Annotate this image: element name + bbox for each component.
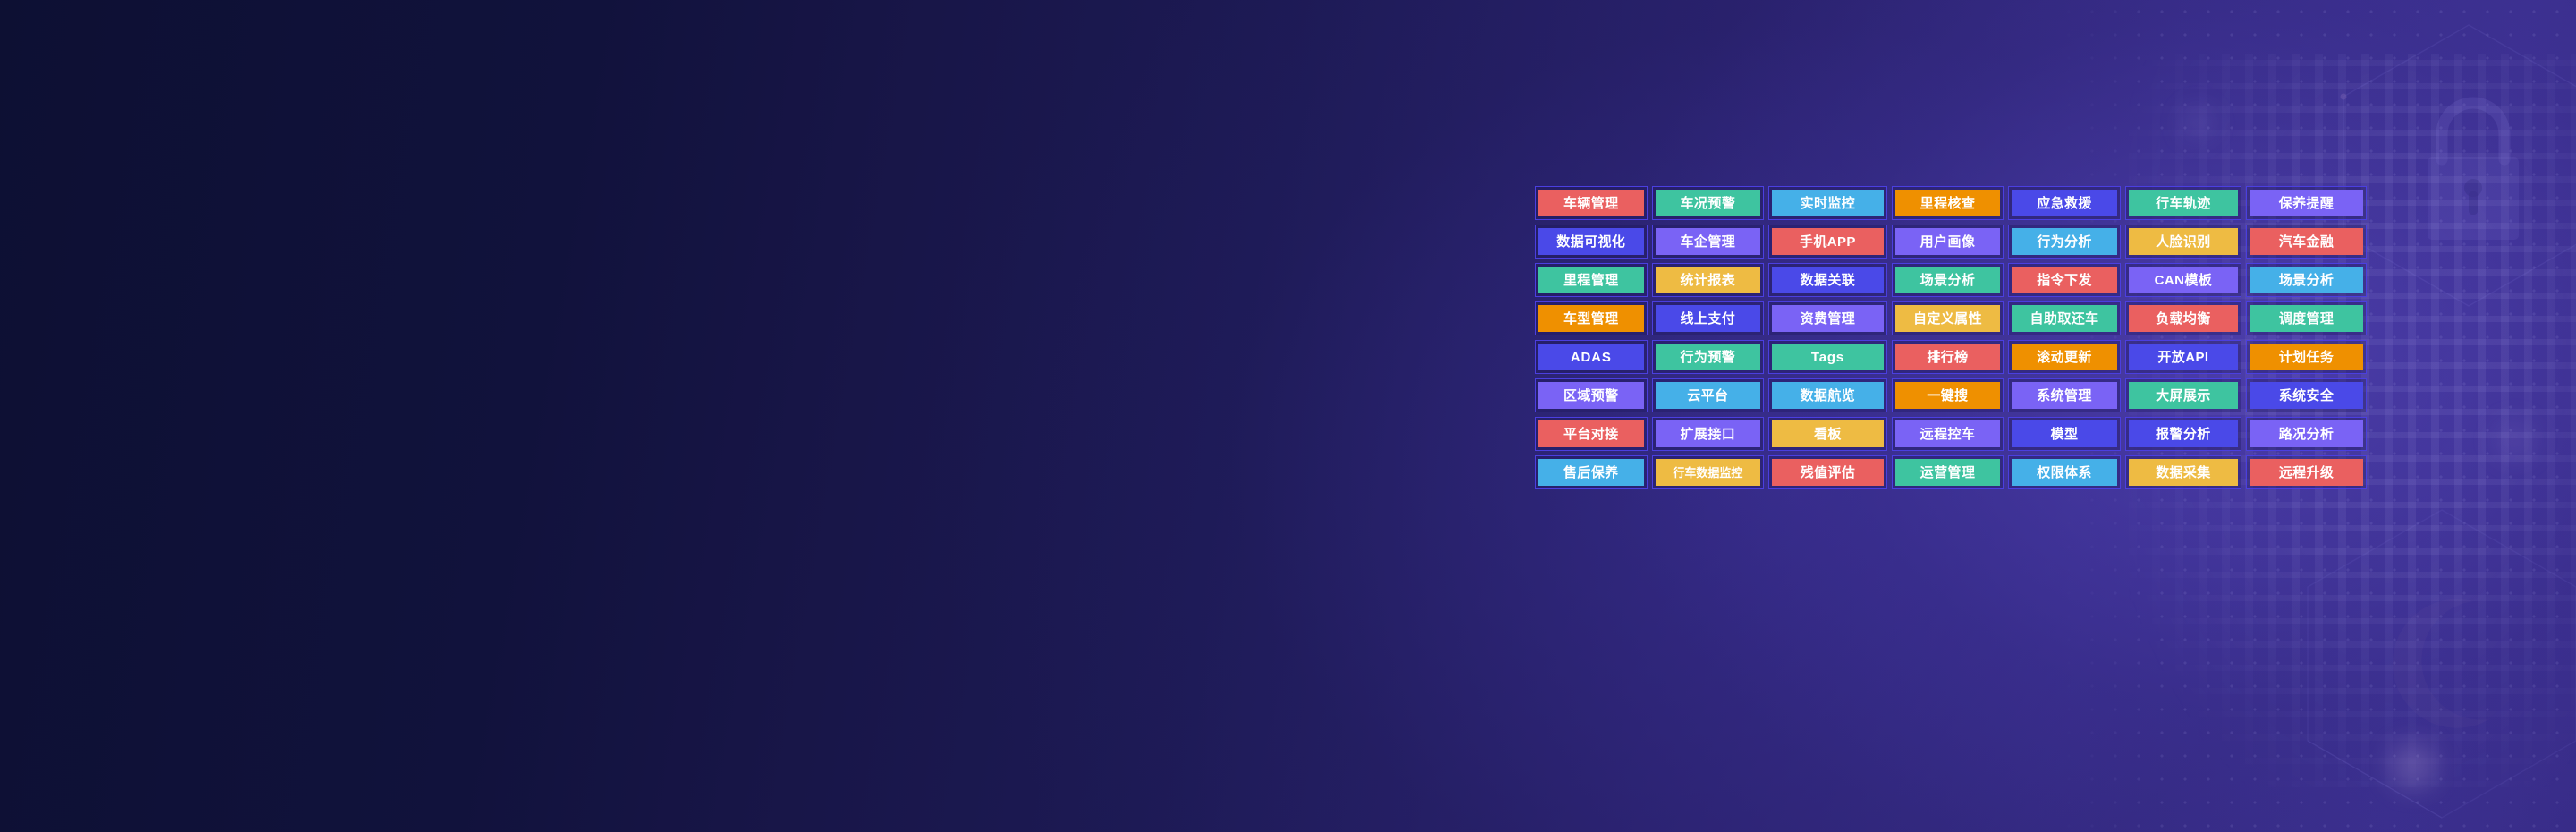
tile-6-3[interactable]: 数据航览 [1768, 378, 1887, 412]
tile-4-3[interactable]: 资费管理 [1768, 301, 1887, 335]
tile-7-1[interactable]: 平台对接 [1535, 417, 1648, 451]
tile-7-2[interactable]: 扩展接口 [1652, 417, 1765, 451]
tile-label: 行车数据监控 [1656, 459, 1761, 486]
tile-3-3[interactable]: 数据关联 [1768, 263, 1887, 297]
tile-6-1[interactable]: 区域预警 [1535, 378, 1648, 412]
tile-label: 负载均衡 [2129, 305, 2238, 332]
tile-label: 残值评估 [1772, 459, 1884, 486]
tile-4-4[interactable]: 自定义属性 [1892, 301, 2004, 335]
tile-1-2[interactable]: 车况预警 [1652, 186, 1765, 220]
tile-5-5[interactable]: 滚动更新 [2008, 340, 2121, 374]
tile-3-1[interactable]: 里程管理 [1535, 263, 1648, 297]
glow-orb-3 [2495, 420, 2535, 460]
tile-label: 系统管理 [2012, 382, 2117, 409]
tile-2-4[interactable]: 用户画像 [1892, 225, 2004, 259]
tile-label: 用户画像 [1895, 228, 2001, 255]
tile-row: 平台对接扩展接口看板远程控车模型报警分析路况分析 [1535, 417, 2367, 451]
tile-8-6[interactable]: 数据采集 [2125, 455, 2241, 489]
tile-label: 排行榜 [1895, 344, 2001, 370]
tile-8-2[interactable]: 行车数据监控 [1652, 455, 1765, 489]
tile-2-6[interactable]: 人脸识别 [2125, 225, 2241, 259]
tile-label: 行为分析 [2012, 228, 2117, 255]
tile-label: 运营管理 [1895, 459, 2001, 486]
tile-5-1[interactable]: ADAS [1535, 340, 1648, 374]
tile-2-7[interactable]: 汽车金融 [2246, 225, 2367, 259]
tile-2-3[interactable]: 手机APP [1768, 225, 1887, 259]
tile-label: 大屏展示 [2129, 382, 2238, 409]
tile-label: 里程核查 [1895, 190, 2001, 216]
tile-5-4[interactable]: 排行榜 [1892, 340, 2004, 374]
tile-label: 自助取还车 [2012, 305, 2117, 332]
tile-1-6[interactable]: 行车轨迹 [2125, 186, 2241, 220]
tile-8-3[interactable]: 残值评估 [1768, 455, 1887, 489]
tile-4-6[interactable]: 负载均衡 [2125, 301, 2241, 335]
tile-label: ADAS [1538, 344, 1644, 370]
tile-label: 一键搜 [1895, 382, 2001, 409]
tile-label: 汽车金融 [2250, 228, 2363, 255]
padlock-icon [2406, 82, 2540, 252]
tile-5-6[interactable]: 开放API [2125, 340, 2241, 374]
tile-label: 车型管理 [1538, 305, 1644, 332]
tile-row: 车辆管理车况预警实时监控里程核查应急救援行车轨迹保养提醒 [1535, 186, 2367, 220]
glow-orb-1 [2390, 743, 2436, 789]
tile-4-2[interactable]: 线上支付 [1652, 301, 1765, 335]
tile-1-4[interactable]: 里程核查 [1892, 186, 2004, 220]
tile-5-3[interactable]: Tags [1768, 340, 1887, 374]
tile-8-5[interactable]: 权限体系 [2008, 455, 2121, 489]
tile-label: 云平台 [1656, 382, 1761, 409]
tile-4-5[interactable]: 自助取还车 [2008, 301, 2121, 335]
tile-label: 计划任务 [2250, 344, 2363, 370]
tile-3-4[interactable]: 场景分析 [1892, 263, 2004, 297]
tile-label: 资费管理 [1772, 305, 1884, 332]
tile-label: 看板 [1772, 420, 1884, 447]
tile-5-2[interactable]: 行为预警 [1652, 340, 1765, 374]
tile-3-7[interactable]: 场景分析 [2246, 263, 2367, 297]
tile-6-5[interactable]: 系统管理 [2008, 378, 2121, 412]
tile-2-5[interactable]: 行为分析 [2008, 225, 2121, 259]
tile-label: 场景分析 [2250, 267, 2363, 293]
tile-7-3[interactable]: 看板 [1768, 417, 1887, 451]
tile-label: 路况分析 [2250, 420, 2363, 447]
tile-label: 报警分析 [2129, 420, 2238, 447]
tile-label: 数据关联 [1772, 267, 1884, 293]
tile-1-3[interactable]: 实时监控 [1768, 186, 1887, 220]
tile-4-7[interactable]: 调度管理 [2246, 301, 2367, 335]
tile-row: ADAS行为预警Tags排行榜滚动更新开放API计划任务 [1535, 340, 2367, 374]
tile-label: 系统安全 [2250, 382, 2363, 409]
tile-7-5[interactable]: 模型 [2008, 417, 2121, 451]
tile-4-1[interactable]: 车型管理 [1535, 301, 1648, 335]
tile-label: 售后保养 [1538, 459, 1644, 486]
tile-8-7[interactable]: 远程升级 [2246, 455, 2367, 489]
tile-row: 数据可视化车企管理手机APP用户画像行为分析人脸识别汽车金融 [1535, 225, 2367, 259]
tile-label: 场景分析 [1895, 267, 2001, 293]
tile-label: 车况预警 [1656, 190, 1761, 216]
tile-6-6[interactable]: 大屏展示 [2125, 378, 2241, 412]
tile-row: 车型管理线上支付资费管理自定义属性自助取还车负载均衡调度管理 [1535, 301, 2367, 335]
tile-label: 车辆管理 [1538, 190, 1644, 216]
feature-tile-grid: 车辆管理车况预警实时监控里程核查应急救援行车轨迹保养提醒数据可视化车企管理手机A… [1535, 186, 2367, 489]
crescent-decor [2388, 590, 2522, 734]
tile-7-6[interactable]: 报警分析 [2125, 417, 2241, 451]
tile-label: 里程管理 [1538, 267, 1644, 293]
tile-1-5[interactable]: 应急救援 [2008, 186, 2121, 220]
tile-label: 数据可视化 [1538, 228, 1644, 255]
tile-label: 区域预警 [1538, 382, 1644, 409]
tile-label: 指令下发 [2012, 267, 2117, 293]
tile-label: 应急救援 [2012, 190, 2117, 216]
tile-label: 远程升级 [2250, 459, 2363, 486]
tile-label: 模型 [2012, 420, 2117, 447]
tile-row: 里程管理统计报表数据关联场景分析指令下发CAN模板场景分析 [1535, 263, 2367, 297]
tile-label: 实时监控 [1772, 190, 1884, 216]
tile-label: 保养提醒 [2250, 190, 2363, 216]
tile-label: CAN模板 [2129, 267, 2238, 293]
screen: 车辆管理车况预警实时监控里程核查应急救援行车轨迹保养提醒数据可视化车企管理手机A… [0, 0, 2576, 832]
tile-row: 售后保养行车数据监控残值评估运营管理权限体系数据采集远程升级 [1535, 455, 2367, 489]
tile-3-2[interactable]: 统计报表 [1652, 263, 1765, 297]
tile-row: 区域预警云平台数据航览一键搜系统管理大屏展示系统安全 [1535, 378, 2367, 412]
tile-label: 开放API [2129, 344, 2238, 370]
tile-label: 远程控车 [1895, 420, 2001, 447]
tile-7-7[interactable]: 路况分析 [2246, 417, 2367, 451]
tile-1-1[interactable]: 车辆管理 [1535, 186, 1648, 220]
tile-label: 数据采集 [2129, 459, 2238, 486]
tile-6-4[interactable]: 一键搜 [1892, 378, 2004, 412]
tile-8-4[interactable]: 运营管理 [1892, 455, 2004, 489]
tile-5-7[interactable]: 计划任务 [2246, 340, 2367, 374]
tile-label: 手机APP [1772, 228, 1884, 255]
tile-label: 车企管理 [1656, 228, 1761, 255]
glow-orb-2 [2182, 107, 2213, 138]
tile-label: 扩展接口 [1656, 420, 1761, 447]
tile-label: Tags [1772, 344, 1884, 370]
tile-7-4[interactable]: 远程控车 [1892, 417, 2004, 451]
tile-label: 调度管理 [2250, 305, 2363, 332]
tile-2-2[interactable]: 车企管理 [1652, 225, 1765, 259]
tile-label: 数据航览 [1772, 382, 1884, 409]
tile-label: 人脸识别 [2129, 228, 2238, 255]
tile-8-1[interactable]: 售后保养 [1535, 455, 1648, 489]
tile-label: 自定义属性 [1895, 305, 2001, 332]
tile-label: 行车轨迹 [2129, 190, 2238, 216]
tile-label: 平台对接 [1538, 420, 1644, 447]
tile-2-1[interactable]: 数据可视化 [1535, 225, 1648, 259]
tile-6-2[interactable]: 云平台 [1652, 378, 1765, 412]
tile-label: 统计报表 [1656, 267, 1761, 293]
tile-label: 权限体系 [2012, 459, 2117, 486]
tile-label: 滚动更新 [2012, 344, 2117, 370]
tile-3-5[interactable]: 指令下发 [2008, 263, 2121, 297]
tile-1-7[interactable]: 保养提醒 [2246, 186, 2367, 220]
tile-6-7[interactable]: 系统安全 [2246, 378, 2367, 412]
tile-3-6[interactable]: CAN模板 [2125, 263, 2241, 297]
tile-label: 行为预警 [1656, 344, 1761, 370]
tile-label: 线上支付 [1656, 305, 1761, 332]
